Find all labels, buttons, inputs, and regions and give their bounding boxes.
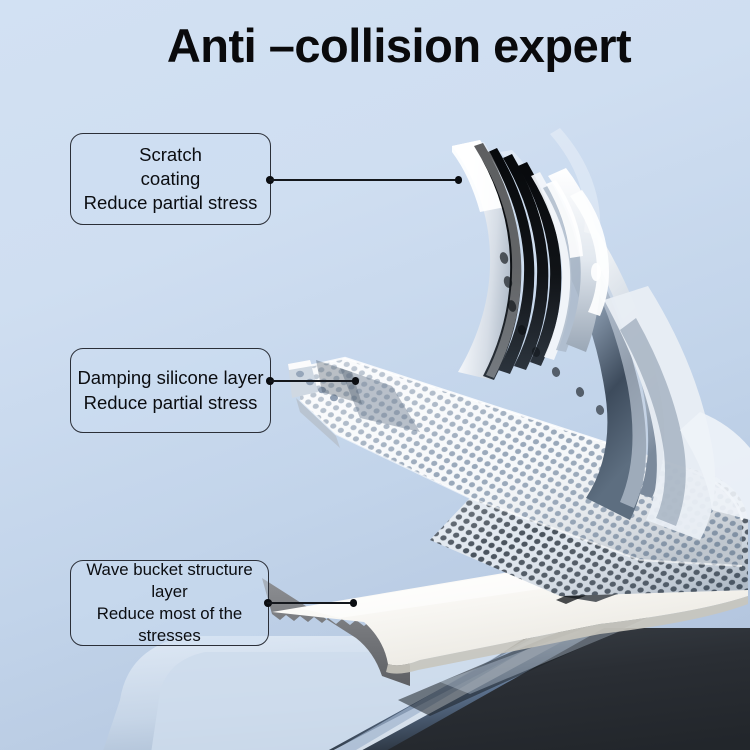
callout-scratch-coating-label: Scratch coating Reduce partial stress: [84, 143, 258, 215]
leader-dot-end: [455, 176, 463, 184]
callout-wave-bucket-structure-layer-label: Wave bucket structure layer Reduce most …: [71, 559, 268, 646]
callout-wave-bucket-structure-layer[interactable]: Wave bucket structure layer Reduce most …: [70, 560, 269, 646]
leader-line-scratch-coating: [266, 173, 462, 187]
leader-line-bar: [269, 380, 356, 382]
callout-damping-silicone-layer-label: Damping silicone layer Reduce partial st…: [77, 366, 263, 414]
callout-scratch-coating[interactable]: Scratch coating Reduce partial stress: [70, 133, 271, 225]
product-feature-graphic: Anti –collision expert Scratch coating R…: [0, 0, 750, 750]
callout-damping-silicone-layer[interactable]: Damping silicone layer Reduce partial st…: [70, 348, 271, 433]
page-title: Anti –collision expert: [0, 18, 750, 73]
leader-line-wave-bucket-structure-layer: [264, 596, 357, 610]
leader-dot-end: [350, 599, 358, 607]
leader-line-damping-silicone-layer: [266, 374, 359, 388]
leader-line-bar: [267, 602, 354, 604]
leader-dot-end: [352, 377, 360, 385]
leader-line-bar: [269, 179, 459, 181]
